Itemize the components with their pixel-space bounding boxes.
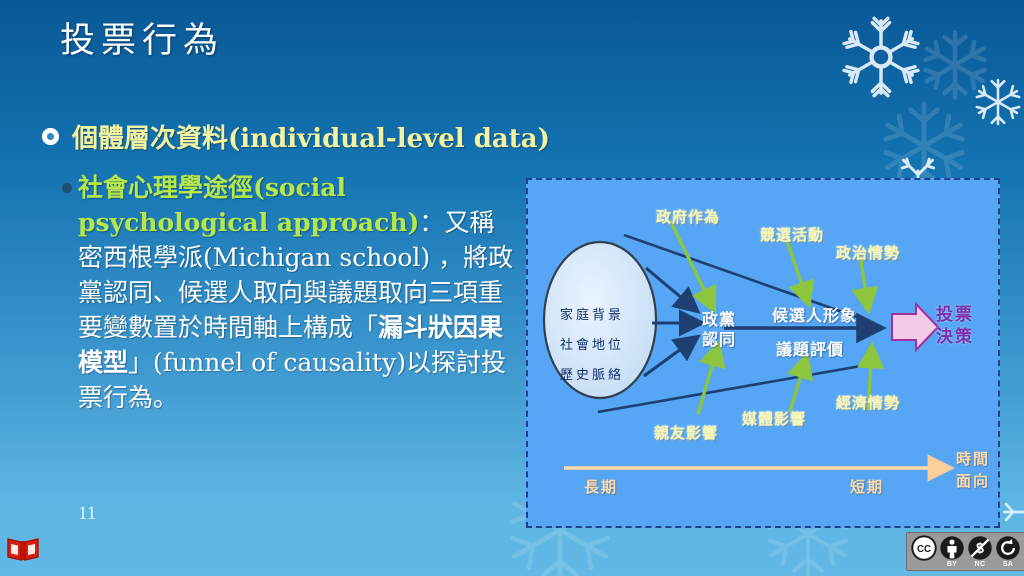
lower-influence-economy: 經濟情勢 (836, 392, 900, 413)
bullet-level1-label: 個體層次資料(individual-level data) (72, 118, 550, 155)
cc-sa-icon: SA (995, 535, 1021, 569)
core-node-party-id: 政黨認同 (702, 310, 736, 350)
cc-nc-label: NC (975, 561, 986, 569)
bullet-level2-label: 社會心理學途徑(social psychological approach)：又… (78, 170, 514, 415)
lower-influence-media: 媒體影響 (742, 408, 806, 429)
slide-canvas: 投票行為 個體層次資料(individual-level data) 社會心理學… (0, 0, 1024, 576)
upper-influence-government: 政府作為 (656, 206, 720, 227)
upper-influence-campaign: 競選活動 (760, 224, 824, 245)
funnel-source-1: 家庭背景 (560, 304, 624, 323)
bullet-level1: 個體層次資料(individual-level data) (42, 118, 550, 155)
bullet-dot-icon (62, 183, 72, 193)
upper-influence-political-climate: 政治情勢 (836, 242, 900, 263)
page-title: 投票行為 (60, 12, 224, 63)
funnel-of-causality-diagram: 家庭背景 社會地位 歷史脈絡 政黨認同 候選人形象 議題評價 投票決策 政府作為… (526, 178, 1000, 528)
mid-node-candidate-image: 候選人形象 (772, 302, 857, 326)
funnel-source-3: 歷史脈絡 (560, 364, 624, 383)
outcome-label: 投票決策 (936, 304, 974, 348)
page-number: 11 (78, 503, 96, 525)
snowflake-icon (1000, 490, 1024, 534)
funnel-source-2: 社會地位 (560, 334, 624, 353)
cc-nc-icon: $ NC (967, 535, 993, 569)
bullet-level2: 社會心理學途徑(social psychological approach)：又… (62, 170, 514, 415)
timeline-axis-label: 時間面向 (956, 448, 996, 492)
cc-mark: CC (911, 535, 937, 569)
snowflake-icon (972, 76, 1024, 128)
creative-commons-badge[interactable]: CC BY $ NC SA (906, 532, 1024, 571)
snowflake-icon (838, 14, 924, 100)
snowflake-icon (918, 28, 992, 102)
bullet-text-segment: 社會心理學途徑(social psychological approach) (78, 173, 419, 237)
bullet-text-segment: 」(funnel of causality)以探討投票行為。 (78, 348, 506, 412)
timeline-right-label: 短期 (850, 476, 884, 497)
bullet-ring-icon (42, 128, 59, 145)
outcome-voting-decision: 投票決策 (936, 304, 974, 348)
cc-by-icon: BY (939, 535, 965, 569)
svg-text:CC: CC (917, 544, 931, 555)
cc-sa-label: SA (1003, 561, 1013, 569)
timeline-left-label: 長期 (584, 476, 618, 497)
open-book-icon (6, 535, 40, 568)
lower-influence-friends-family: 親友影響 (654, 422, 718, 443)
timeline-axis-text: 時間面向 (956, 448, 996, 492)
cc-by-label: BY (947, 561, 957, 569)
mid-node-issue-evaluation: 議題評價 (776, 336, 844, 360)
core-node-label: 政黨認同 (702, 310, 736, 350)
